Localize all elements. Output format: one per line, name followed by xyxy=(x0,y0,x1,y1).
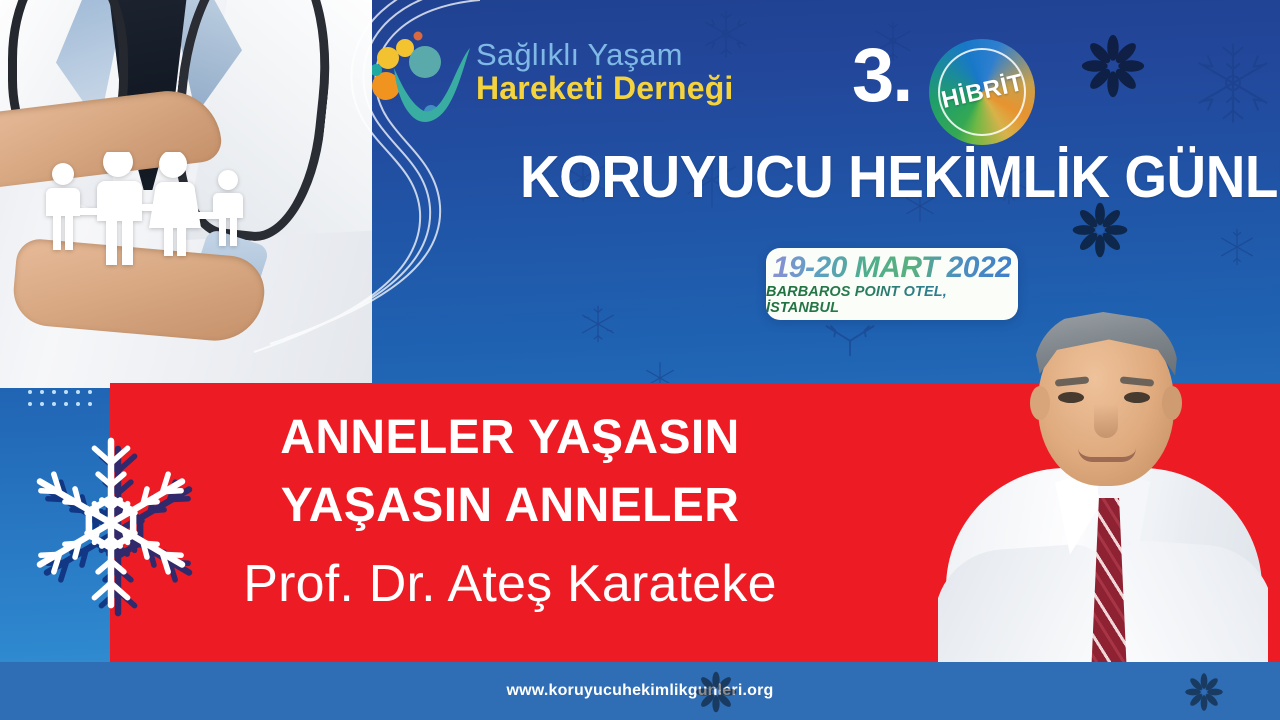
speaker-name: Prof. Dr. Ateş Karateke xyxy=(160,548,860,622)
edition-number: 3. xyxy=(852,38,911,114)
association-logo: Sağlıklı Yaşam Hareketi Derneği xyxy=(372,22,732,134)
snowflake-icon xyxy=(1190,40,1276,126)
event-poster: Sağlıklı Yaşam Hareketi Derneği 3. HİBRİ… xyxy=(0,0,1280,720)
snowflake-icon xyxy=(576,302,620,346)
snowflake-icon xyxy=(822,318,878,358)
headline-line-2: YAŞASIN ANNELER xyxy=(160,472,860,540)
snowflake-flower-icon xyxy=(1075,28,1151,104)
footer-bar: www.koruyucuhekimlikgunleri.org xyxy=(0,662,1280,720)
banner-text-block: ANNELER YAŞASIN YAŞASIN ANNELER Prof. Dr… xyxy=(160,404,860,622)
doctor-hands-family-photo xyxy=(0,0,372,388)
website-url-link[interactable]: www.koruyucuhekimlikgunleri.org xyxy=(507,682,774,700)
snowflake-icon xyxy=(1215,225,1259,269)
logo-line-2: Hareketi Derneği xyxy=(476,71,734,106)
page-title: KORUYUCU HEKİMLİK GÜNLERİ xyxy=(520,148,1208,207)
speaker-portrait-photo xyxy=(938,300,1268,662)
dot-grid-icon xyxy=(28,390,100,414)
headline-line-1: ANNELER YAŞASIN xyxy=(160,404,860,472)
saglikli-yasam-checkmark-logo xyxy=(372,24,478,128)
snowflake-flower-icon xyxy=(1180,668,1228,716)
hybrid-badge-label: HİBRİT xyxy=(938,69,1025,115)
hybrid-badge: HİBRİT xyxy=(929,39,1035,145)
event-date: 19-20 MART 2022 xyxy=(773,252,1012,284)
family-silhouette-icon xyxy=(30,152,260,272)
logo-line-1: Sağlıklı Yaşam xyxy=(476,38,734,71)
